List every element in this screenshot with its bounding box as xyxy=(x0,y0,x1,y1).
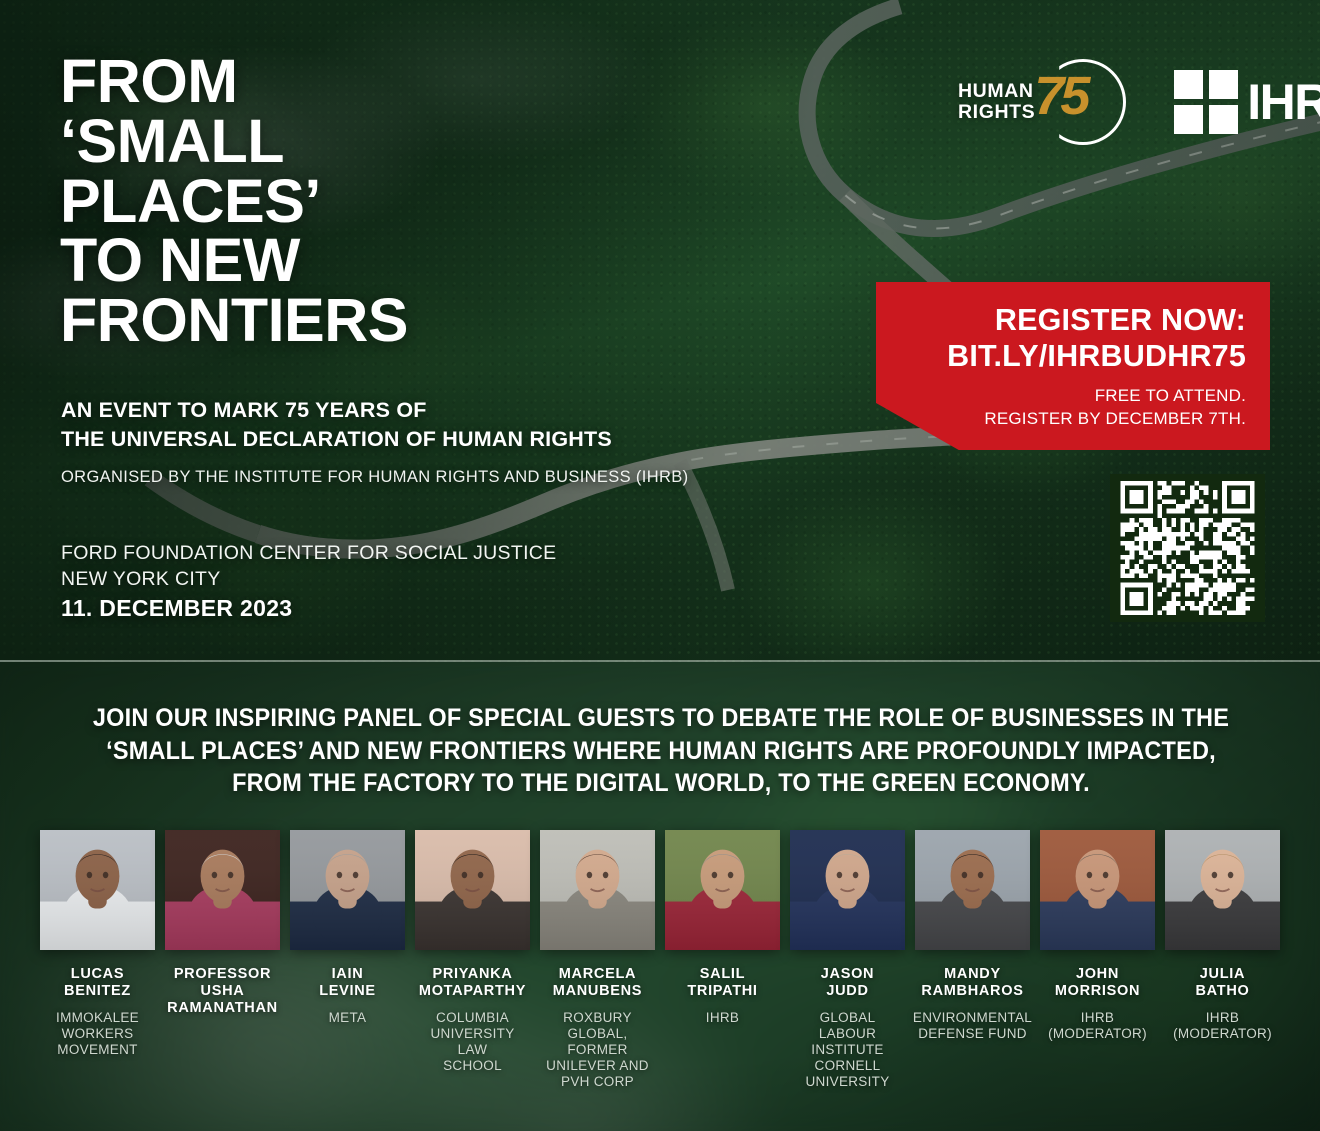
speaker-affiliation-line: CORNELL xyxy=(805,1058,889,1074)
speaker-name-line: PRIYANKA xyxy=(419,966,526,983)
hr75-circle-mark: 75 xyxy=(1040,59,1126,145)
speaker-name-line: LEVINE xyxy=(319,983,376,1000)
speaker-affiliation: GLOBALLABOURINSTITUTECORNELLUNIVERSITY xyxy=(805,1010,889,1091)
speaker-card: JASONJUDDGLOBALLABOURINSTITUTECORNELLUNI… xyxy=(790,830,906,1091)
speaker-card: MARCELAMANUBENSROXBURYGLOBAL,FORMERUNILE… xyxy=(540,830,656,1091)
speaker-affiliation: ROXBURYGLOBAL,FORMERUNILEVER ANDPVH CORP xyxy=(546,1010,649,1091)
speaker-name-line: MANUBENS xyxy=(553,983,642,1000)
speaker-name: JULIABATHO xyxy=(1196,966,1250,1000)
register-url[interactable]: BIT.LY/IHRBUDHR75 xyxy=(876,339,1246,375)
speaker-name-line: RAMANATHAN xyxy=(167,1000,278,1017)
venue-name: FORD FOUNDATION CENTER FOR SOCIAL JUSTIC… xyxy=(61,541,761,567)
speaker-card: PRIYANKAMOTAPARTHYCOLUMBIAUNIVERSITY LAW… xyxy=(415,830,531,1091)
speaker-affiliation-line: PVH CORP xyxy=(546,1074,649,1090)
speaker-name-line: JASON xyxy=(821,966,874,983)
speaker-name-line: SALIL xyxy=(687,966,757,983)
speaker-name: SALILTRIPATHI xyxy=(687,966,757,1000)
speaker-affiliation-line: SCHOOL xyxy=(415,1058,531,1074)
speaker-affiliation-line: INSTITUTE xyxy=(805,1042,889,1058)
speaker-affiliation-line: ENVIRONMENTAL xyxy=(913,1010,1032,1026)
speaker-affiliation-line: ROXBURY xyxy=(546,1010,649,1026)
speaker-affiliation: IHRB(MODERATOR) xyxy=(1173,1010,1272,1042)
speaker-card: JULIABATHOIHRB(MODERATOR) xyxy=(1165,830,1281,1091)
speaker-name-line: BENITEZ xyxy=(64,983,131,1000)
speaker-affiliation-line: META xyxy=(329,1010,367,1026)
speaker-name: PRIYANKAMOTAPARTHY xyxy=(419,966,526,1000)
speaker-portrait xyxy=(915,830,1030,950)
register-banner[interactable]: REGISTER NOW: BIT.LY/IHRBUDHR75 FREE TO … xyxy=(876,282,1270,450)
register-headline: REGISTER NOW: BIT.LY/IHRBUDHR75 xyxy=(876,303,1246,374)
panel-section: JOIN OUR INSPIRING PANEL OF SPECIAL GUES… xyxy=(0,662,1320,1131)
speaker-name: JOHNMORRISON xyxy=(1055,966,1140,1000)
ihrb-wordmark: IHRB xyxy=(1247,77,1320,127)
speaker-name: LUCASBENITEZ xyxy=(64,966,131,1000)
speaker-affiliation-line: COLUMBIA xyxy=(415,1010,531,1026)
speaker-affiliation-line: FORMER xyxy=(546,1042,649,1058)
speaker-affiliation-line: UNIVERSITY xyxy=(805,1074,889,1090)
speaker-affiliation-line: GLOBAL, xyxy=(546,1026,649,1042)
speaker-affiliation-line: UNIVERSITY LAW xyxy=(415,1026,531,1058)
ihrb-logo: IHRB xyxy=(1174,70,1320,134)
speaker-name: IAINLEVINE xyxy=(319,966,376,1000)
speaker-name-line: JOHN xyxy=(1055,966,1140,983)
speaker-affiliation: IHRB xyxy=(706,1010,739,1026)
human-rights-75-wordmark: HUMAN RIGHTS xyxy=(958,81,1035,122)
speaker-affiliation-line: LABOUR xyxy=(805,1026,889,1042)
speaker-affiliation: ENVIRONMENTALDEFENSE FUND xyxy=(913,1010,1032,1042)
speaker-portrait xyxy=(40,830,155,950)
speaker-name-line: JUDD xyxy=(821,983,874,1000)
register-deadline-label: REGISTER BY DECEMBER 7TH. xyxy=(876,408,1246,431)
event-subtitle: AN EVENT TO MARK 75 YEARS OF THE UNIVERS… xyxy=(61,396,741,453)
speaker-name-line: RAMBHAROS xyxy=(921,983,1023,1000)
speaker-card: JOHNMORRISONIHRB(MODERATOR) xyxy=(1040,830,1156,1091)
speaker-affiliation-line: DEFENSE FUND xyxy=(913,1026,1032,1042)
speaker-affiliation-line: IHRB xyxy=(706,1010,739,1026)
speaker-affiliation: COLUMBIAUNIVERSITY LAWSCHOOL xyxy=(415,1010,531,1075)
speaker-affiliation: IMMOKALEEWORKERSMOVEMENT xyxy=(56,1010,139,1059)
page-title-line: ‘SMALL xyxy=(60,112,700,172)
callout-line-2: ‘SMALL PLACES’ AND NEW FRONTIERS WHERE H… xyxy=(87,735,1236,768)
speaker-name-line: USHA xyxy=(167,983,278,1000)
speaker-affiliation-line: IHRB xyxy=(1173,1010,1272,1026)
hr75-line-1: HUMAN xyxy=(958,81,1035,102)
speaker-name-line: JULIA xyxy=(1196,966,1250,983)
speaker-card: IAINLEVINEMETA xyxy=(290,830,406,1091)
speaker-name-line: MANDY xyxy=(921,966,1023,983)
callout-line-1: JOIN OUR INSPIRING PANEL OF SPECIAL GUES… xyxy=(87,702,1236,735)
subtitle-line-2: THE UNIVERSAL DECLARATION OF HUMAN RIGHT… xyxy=(61,425,741,454)
speaker-affiliation-line: GLOBAL xyxy=(805,1010,889,1026)
speaker-name-line: MARCELA xyxy=(553,966,642,983)
speaker-name-line: IAIN xyxy=(319,966,376,983)
speaker-name-line: MOTAPARTHY xyxy=(419,983,526,1000)
page-title: FROM‘SMALLPLACES’TO NEWFRONTIERS xyxy=(60,52,700,351)
page-title-line: FROM xyxy=(60,52,700,112)
speaker-affiliation-line: (MODERATOR) xyxy=(1173,1026,1272,1042)
free-to-attend-label: FREE TO ATTEND. xyxy=(876,385,1246,408)
logo-row: HUMAN RIGHTS 75 IHRB xyxy=(958,60,1320,144)
speaker-portrait xyxy=(290,830,405,950)
ihrb-square-3 xyxy=(1174,105,1203,134)
speaker-portrait xyxy=(1040,830,1155,950)
speaker-portrait xyxy=(1165,830,1280,950)
page-title-line: PLACES’ xyxy=(60,172,700,232)
speaker-affiliation-line: (MODERATOR) xyxy=(1048,1026,1147,1042)
venue-block: FORD FOUNDATION CENTER FOR SOCIAL JUSTIC… xyxy=(61,541,761,592)
hr75-number: 75 xyxy=(1034,69,1086,123)
speaker-affiliation-line: WORKERS xyxy=(56,1026,139,1042)
speaker-portrait xyxy=(540,830,655,950)
human-rights-75-logo: HUMAN RIGHTS 75 xyxy=(958,60,1126,144)
page-title-line: FRONTIERS xyxy=(60,291,700,351)
speaker-portrait xyxy=(790,830,905,950)
speaker-affiliation-line: UNILEVER AND xyxy=(546,1058,649,1074)
callout-line-3: FROM THE FACTORY TO THE DIGITAL WORLD, T… xyxy=(87,767,1236,800)
venue-city: NEW YORK CITY xyxy=(61,567,761,593)
organiser-text: ORGANISED BY THE INSTITUTE FOR HUMAN RIG… xyxy=(61,468,821,487)
speaker-card: MANDYRAMBHAROSENVIRONMENTALDEFENSE FUND xyxy=(915,830,1031,1091)
ihrb-squares-icon xyxy=(1174,70,1238,134)
speaker-affiliation: IHRB(MODERATOR) xyxy=(1048,1010,1147,1042)
event-date: 11. DECEMBER 2023 xyxy=(61,595,292,622)
speaker-name: MARCELAMANUBENS xyxy=(553,966,642,1000)
panel-callout: JOIN OUR INSPIRING PANEL OF SPECIAL GUES… xyxy=(87,702,1236,800)
speaker-affiliation-line: IMMOKALEE xyxy=(56,1010,139,1026)
speaker-affiliation-line: MOVEMENT xyxy=(56,1042,139,1058)
speaker-portrait xyxy=(415,830,530,950)
speaker-card: SALILTRIPATHIIHRB xyxy=(665,830,781,1091)
speaker-name: JASONJUDD xyxy=(821,966,874,1000)
speaker-affiliation-line: IHRB xyxy=(1048,1010,1147,1026)
speaker-name-line: MORRISON xyxy=(1055,983,1140,1000)
page-title-line: TO NEW xyxy=(60,231,700,291)
speaker-name-line: LUCAS xyxy=(64,966,131,983)
speaker-name-line: TRIPATHI xyxy=(687,983,757,1000)
register-note: FREE TO ATTEND. REGISTER BY DECEMBER 7TH… xyxy=(876,385,1246,430)
register-now-label: REGISTER NOW: xyxy=(876,303,1246,339)
speaker-portrait xyxy=(665,830,780,950)
speaker-affiliation: META xyxy=(329,1010,367,1026)
speaker-name: MANDYRAMBHAROS xyxy=(921,966,1023,1000)
speaker-portrait xyxy=(165,830,280,950)
speaker-list: LUCASBENITEZIMMOKALEEWORKERSMOVEMENTPROF… xyxy=(0,830,1320,1091)
speaker-name-line: PROFESSOR xyxy=(167,966,278,983)
speaker-card: PROFESSORUSHARAMANATHAN xyxy=(165,830,281,1091)
ihrb-square-4 xyxy=(1209,105,1238,134)
speaker-card: LUCASBENITEZIMMOKALEEWORKERSMOVEMENT xyxy=(40,830,156,1091)
ihrb-square-2 xyxy=(1209,70,1238,99)
ihrb-square-1 xyxy=(1174,70,1203,99)
speaker-name: PROFESSORUSHARAMANATHAN xyxy=(167,966,278,1016)
subtitle-line-1: AN EVENT TO MARK 75 YEARS OF xyxy=(61,396,741,425)
hr75-line-2: RIGHTS xyxy=(958,102,1035,123)
event-poster: FROM‘SMALLPLACES’TO NEWFRONTIERS AN EVEN… xyxy=(0,0,1320,1131)
speaker-name-line: BATHO xyxy=(1196,983,1250,1000)
qr-code[interactable] xyxy=(1110,474,1265,622)
hero-section: FROM‘SMALLPLACES’TO NEWFRONTIERS AN EVEN… xyxy=(0,0,1320,662)
